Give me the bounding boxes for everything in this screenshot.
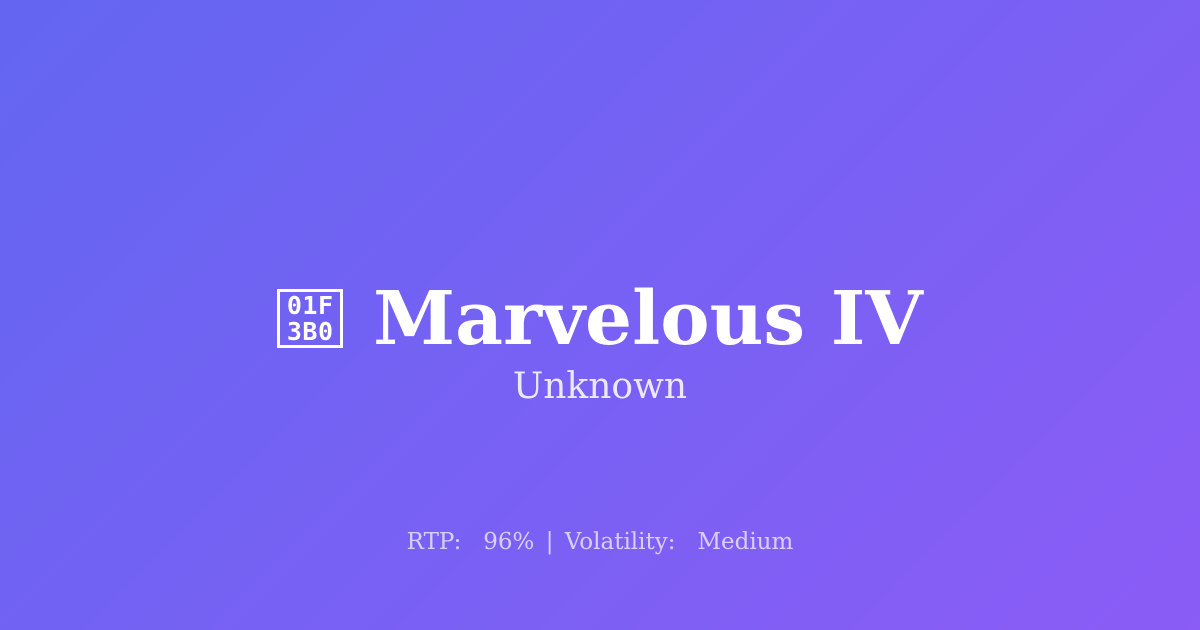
meta-separator: | (542, 529, 558, 555)
provider-subtitle: Unknown (0, 365, 1200, 409)
page-title: Marvelous IV (373, 282, 923, 356)
game-preview-card: 01F 3B0 Marvelous IV Unknown RTP: 96% | … (0, 0, 1200, 630)
rtp-label: RTP: (407, 529, 462, 555)
tofu-codepoint-line-1: 01F (287, 293, 334, 319)
rtp-value: 96% (483, 529, 534, 555)
slot-machine-icon: 01F 3B0 (277, 289, 343, 348)
tofu-codepoint-line-2: 3B0 (287, 319, 334, 345)
volatility-label: Volatility: (565, 529, 676, 555)
game-meta-line: RTP: 96% | Volatility: Medium (0, 527, 1200, 557)
volatility-value: Medium (697, 529, 793, 555)
